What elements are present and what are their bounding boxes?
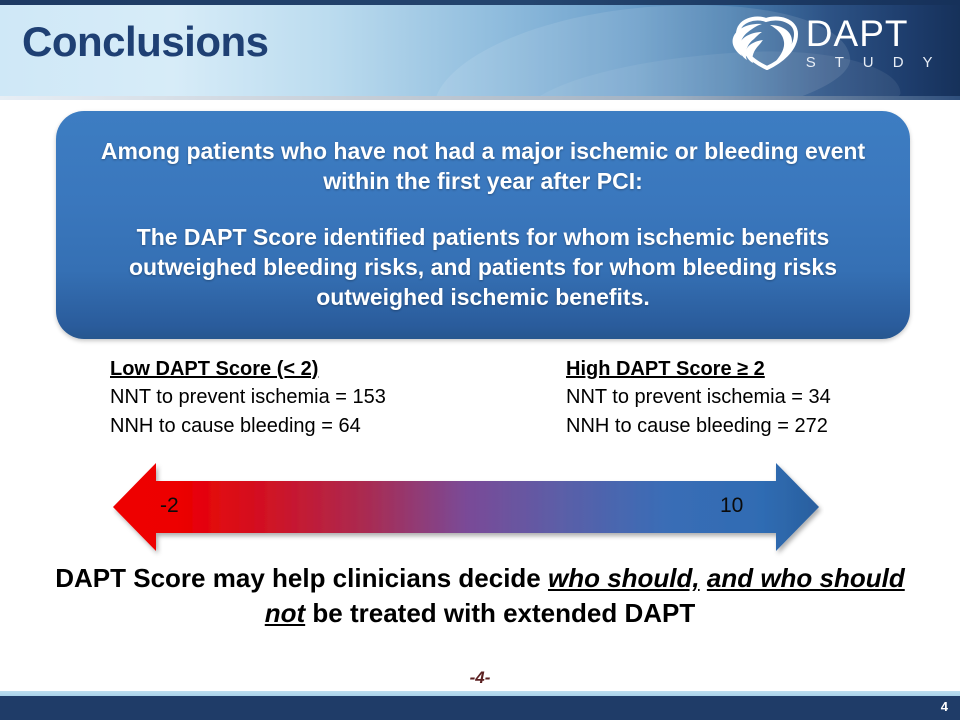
footer-bar	[0, 696, 960, 720]
closing-statement: DAPT Score may help clinicians decide wh…	[48, 561, 912, 631]
slide-header-banner: Conclusions DAPT S T U D Y	[0, 0, 960, 100]
logo-wordmark: DAPT S T U D Y	[806, 15, 940, 70]
callout-paragraph-2: The DAPT Score identified patients for w…	[82, 223, 884, 313]
page-number: 4	[941, 699, 948, 714]
dapt-heart-swoosh-icon	[726, 14, 800, 70]
high-score-heading: High DAPT Score ≥ 2	[566, 355, 831, 383]
closing-statement-part-3: be treated with extended DAPT	[305, 598, 695, 628]
footer-slide-marker: -4-	[0, 668, 960, 688]
dapt-score-range-arrow: -2 10	[108, 455, 824, 559]
double-headed-arrow-graphic	[108, 455, 824, 559]
conclusion-callout-box: Among patients who have not had a major …	[56, 111, 910, 339]
logo-primary-text: DAPT	[806, 15, 940, 52]
arrow-right-value-label: 10	[720, 494, 743, 518]
closing-statement-part-2	[700, 563, 707, 593]
high-dapt-score-block: High DAPT Score ≥ 2 NNT to prevent ische…	[566, 355, 831, 440]
page-title: Conclusions	[22, 18, 269, 66]
high-score-nnt: NNT to prevent ischemia = 34	[566, 383, 831, 411]
header-top-strip	[0, 0, 960, 5]
closing-statement-part-1: DAPT Score may help clinicians decide	[55, 563, 548, 593]
callout-paragraph-1: Among patients who have not had a major …	[82, 137, 884, 197]
header-bottom-divider	[0, 96, 960, 100]
low-score-heading: Low DAPT Score (< 2)	[110, 355, 386, 383]
logo-secondary-text: S T U D Y	[806, 55, 940, 70]
low-dapt-score-block: Low DAPT Score (< 2) NNT to prevent isch…	[110, 355, 386, 440]
slide-canvas: Conclusions DAPT S T U D Y Among patient…	[0, 0, 960, 720]
low-score-nnh: NNH to cause bleeding = 64	[110, 412, 386, 440]
closing-statement-emphasis-1: who should,	[548, 563, 700, 593]
low-score-nnt: NNT to prevent ischemia = 153	[110, 383, 386, 411]
arrow-left-value-label: -2	[160, 494, 179, 518]
high-score-nnh: NNH to cause bleeding = 272	[566, 412, 831, 440]
dapt-study-logo: DAPT S T U D Y	[726, 14, 940, 70]
